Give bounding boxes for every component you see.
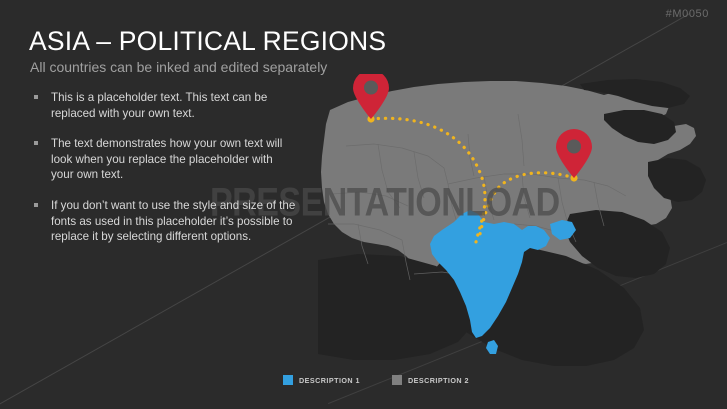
list-item: This is a placeholder text. This text ca… xyxy=(30,90,298,121)
map-legend: DESCRIPTION 1 DESCRIPTION 2 xyxy=(283,375,469,385)
list-item: If you don’t want to use the style and s… xyxy=(30,198,298,245)
bullet-text: If you don’t want to use the style and s… xyxy=(51,199,295,243)
legend-swatch-icon xyxy=(283,375,293,385)
legend-label: DESCRIPTION 1 xyxy=(299,376,360,385)
legend-swatch-icon xyxy=(392,375,402,385)
bullet-square-icon xyxy=(34,95,38,99)
legend-item-description-1[interactable]: DESCRIPTION 1 xyxy=(283,375,360,385)
page-subtitle: All countries can be inked and edited se… xyxy=(30,59,327,75)
bullet-list: This is a placeholder text. This text ca… xyxy=(30,90,298,260)
asia-map-svg xyxy=(318,74,727,374)
slide-canvas: PRESENTATIONLOAD #M0050 ASIA – POLITICAL… xyxy=(0,0,727,409)
bullet-square-icon xyxy=(34,141,38,145)
document-id: #M0050 xyxy=(666,8,709,20)
page-title: ASIA – POLITICAL REGIONS xyxy=(29,26,386,57)
legend-label: DESCRIPTION 2 xyxy=(408,376,469,385)
bullet-text: The text demonstrates how your own text … xyxy=(51,137,282,181)
bullet-text: This is a placeholder text. This text ca… xyxy=(51,91,267,120)
legend-item-description-2[interactable]: DESCRIPTION 2 xyxy=(392,375,469,385)
asia-map[interactable] xyxy=(318,74,727,374)
bullet-square-icon xyxy=(34,203,38,207)
list-item: The text demonstrates how your own text … xyxy=(30,136,298,183)
